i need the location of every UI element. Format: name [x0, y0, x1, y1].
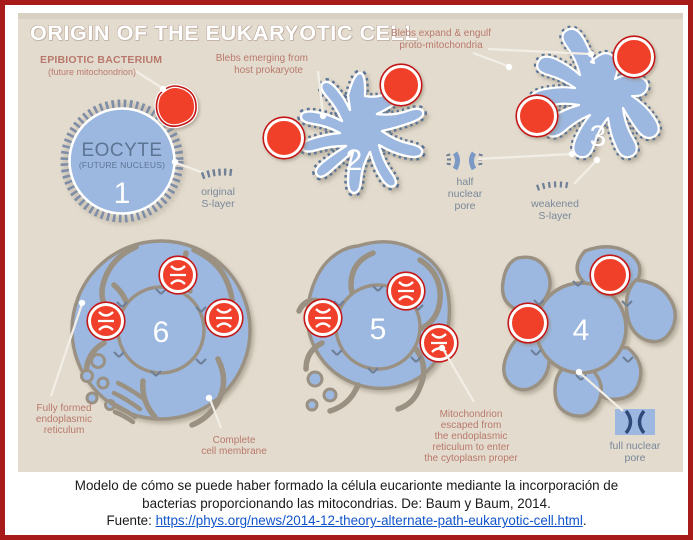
- image-frame: ORIGIN OF THE EUKARYOTIC CELL EOCYTE (FU…: [0, 0, 693, 540]
- caption-line-3: Fuente: https://phys.org/news/2014-12-th…: [106, 512, 586, 530]
- leader-half-pore: [478, 154, 571, 159]
- leader-dot-half-pore: [569, 151, 575, 157]
- label-epibiotic-sub: (future mitochondrion): [48, 67, 136, 77]
- label-full-pore-2: pore: [624, 452, 645, 464]
- label-mito-escaped-3: the endoplasmic: [435, 431, 508, 442]
- label-fully-formed-1: Fully formed: [36, 403, 91, 414]
- leader-weakened: [574, 161, 596, 184]
- label-mito-escaped-5: the cytoplasm proper: [424, 453, 518, 464]
- stage-6-complete-eukaryote: 6 Fully formed: [36, 241, 267, 457]
- stage-number-6: 6: [153, 316, 170, 349]
- mitochondrion-5a: [304, 299, 342, 337]
- label-engulf-2: proto-mitochondria: [399, 40, 483, 51]
- proto-mitochondrion-3b: [516, 95, 558, 137]
- label-weakened-1: weakened: [530, 198, 579, 210]
- leader-dot-mito-escaped: [439, 345, 445, 351]
- label-mito-escaped-1: Mitochondrion: [440, 409, 503, 420]
- label-half-pore-3: pore: [454, 200, 475, 212]
- stage-4-enclosure: 4 full nuclear pore: [503, 247, 676, 464]
- label-half-pore-1: half: [457, 176, 474, 188]
- leader-dot-engulf-b: [506, 64, 512, 70]
- stage-number-5: 5: [370, 313, 387, 346]
- eocyte-label: EOCYTE: [81, 140, 162, 161]
- mitochondrion-6b: [159, 256, 197, 294]
- epibiotic-bacterium-2b: [380, 64, 422, 106]
- label-complete-membrane-2: cell membrane: [201, 446, 267, 457]
- stage-3-engulfment: 3 Blebs expand & engulf proto-mitochondr…: [391, 28, 659, 222]
- source-link[interactable]: https://phys.org/news/2014-12-theory-alt…: [156, 513, 583, 528]
- leader-dot-full-pore: [576, 369, 582, 375]
- caption-source-suffix: .: [583, 513, 587, 528]
- leader-engulf-b: [473, 53, 508, 66]
- label-fully-formed-3: reticulum: [44, 425, 85, 436]
- label-complete-membrane-1: Complete: [213, 435, 256, 446]
- half-nuclear-pore-swatch: [448, 153, 481, 169]
- caption-source-prefix: Fuente:: [106, 513, 155, 528]
- label-engulf-1: Blebs expand & engulf: [391, 28, 491, 39]
- label-mito-escaped-4: reticulum to enter: [432, 442, 510, 453]
- infographic-panel: ORIGIN OF THE EUKARYOTIC CELL EOCYTE (FU…: [18, 13, 683, 472]
- label-epibiotic-title: EPIBIOTIC BACTERIUM: [40, 54, 162, 66]
- leader-dot-fully-formed-er: [79, 300, 85, 306]
- mitochondrion-4a: [590, 255, 630, 295]
- label-half-pore-2: nuclear: [448, 188, 483, 200]
- stage-number-2: 2: [346, 144, 363, 177]
- stage-2-blebbing: 2 Blebs emerging from host prokaryote: [216, 53, 424, 193]
- original-slayer-swatch: [202, 172, 235, 176]
- mitochondrion-5b: [387, 272, 425, 310]
- stage5-vesicles: [307, 372, 336, 410]
- mitochondrion-6a: [87, 302, 125, 340]
- leader-dot-complete-membrane: [206, 395, 212, 401]
- leader-dot-epibiotic: [160, 86, 166, 92]
- caption-line-1: Modelo de cómo se puede haber formado la…: [75, 477, 618, 495]
- stage-number-4: 4: [573, 314, 590, 347]
- leader-dot-blebs: [320, 113, 326, 119]
- proto-mitochondrion-3a: [613, 36, 655, 78]
- label-mito-escaped-2: escaped from: [441, 420, 502, 431]
- caption-block: Modelo de cómo se puede haber formado la…: [10, 472, 683, 535]
- label-full-pore-1: full nuclear: [610, 440, 661, 452]
- epibiotic-bacterium-2a: [263, 117, 305, 159]
- label-blebs-2: host prokaryote: [234, 65, 303, 76]
- stage-number-1: 1: [114, 177, 131, 210]
- leader-dot-engulf-a: [588, 51, 594, 57]
- stage-1-eocyte: EOCYTE (FUTURE NUCLEUS) 1 EPIBIOTIC BACT…: [40, 54, 235, 218]
- mitochondrion-5c: [420, 324, 458, 362]
- label-fully-formed-2: endoplasmic: [36, 414, 92, 425]
- label-blebs-1: Blebs emerging from: [216, 53, 308, 64]
- leader-dot-weakened: [594, 157, 600, 163]
- leader-dot-original-slayer: [172, 159, 178, 165]
- leader-blebs: [318, 71, 323, 115]
- stage-5-er-formation: 5 Mitochondrion: [299, 242, 518, 464]
- label-original-slayer-2: S-layer: [201, 198, 235, 210]
- eocyte-sublabel: (FUTURE NUCLEUS): [79, 160, 165, 170]
- full-nuclear-pore-swatch: [615, 409, 655, 435]
- mitochondrion-4b: [508, 303, 548, 343]
- caption-line-2: bacterias proporcionando las mitocondria…: [142, 495, 551, 513]
- stage-number-3: 3: [590, 120, 607, 153]
- leader-mito-escaped: [443, 349, 474, 402]
- label-weakened-2: S-layer: [538, 210, 572, 222]
- mitochondrion-6c: [205, 299, 243, 337]
- leader-epibiotic: [134, 70, 162, 88]
- weakened-slayer-swatch: [537, 184, 571, 188]
- label-original-slayer-1: original: [201, 186, 235, 198]
- diagram-canvas: EOCYTE (FUTURE NUCLEUS) 1 EPIBIOTIC BACT…: [18, 13, 683, 472]
